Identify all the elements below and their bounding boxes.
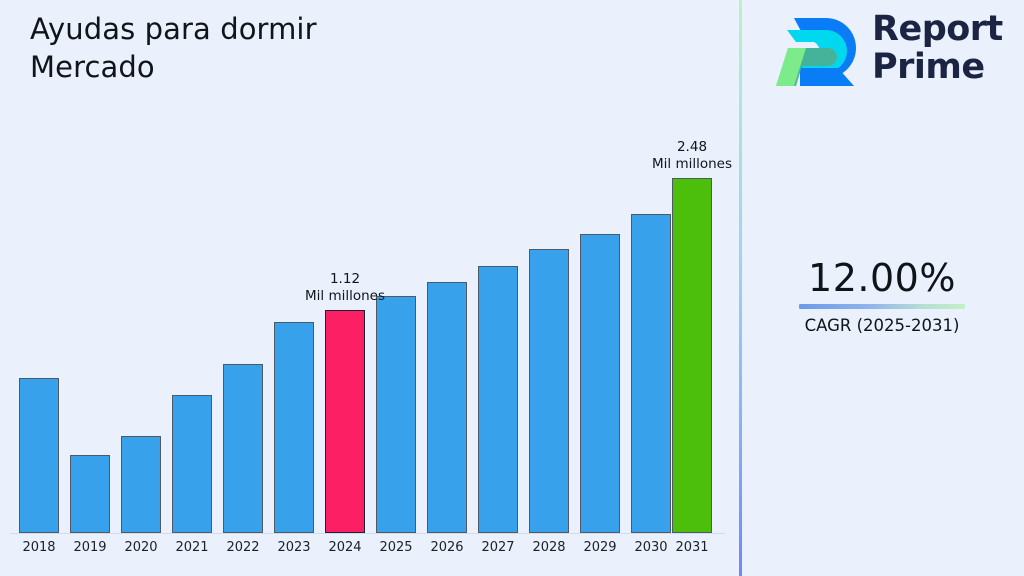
bar-2019 bbox=[70, 455, 110, 533]
chart-baseline bbox=[10, 533, 725, 534]
brand-name: Report Prime bbox=[872, 10, 1012, 86]
cagr-divider-rule bbox=[799, 304, 965, 309]
bar-2018 bbox=[19, 378, 59, 533]
bar-2024 bbox=[325, 310, 365, 533]
bar-chart: 2018201920202021202220232024202520262027… bbox=[0, 0, 739, 576]
x-tick-2018: 2018 bbox=[11, 540, 67, 555]
bar-2030 bbox=[631, 214, 671, 533]
bar-2026 bbox=[427, 282, 467, 533]
bar-2025 bbox=[376, 296, 416, 533]
bar-2029 bbox=[580, 234, 620, 533]
value-callout-2031: 2.48 Mil millones bbox=[617, 139, 767, 173]
x-tick-2028: 2028 bbox=[521, 540, 577, 555]
report-prime-logo-mark bbox=[776, 10, 868, 92]
x-tick-2023: 2023 bbox=[266, 540, 322, 555]
bar-2031 bbox=[672, 178, 712, 533]
value-callout-2024: 1.12 Mil millones bbox=[270, 271, 420, 305]
x-tick-2029: 2029 bbox=[572, 540, 628, 555]
bar-2023 bbox=[274, 322, 314, 533]
x-tick-2031: 2031 bbox=[664, 540, 720, 555]
cagr-value: 12.00% bbox=[740, 255, 1024, 301]
bar-2020 bbox=[121, 436, 161, 533]
bar-2028 bbox=[529, 249, 569, 533]
slide-canvas: Ayudas para dormir Mercado 2018201920202… bbox=[0, 0, 1024, 576]
x-tick-2022: 2022 bbox=[215, 540, 271, 555]
cagr-label: CAGR (2025-2031) bbox=[740, 311, 1024, 338]
brand-logo: Report Prime bbox=[776, 8, 1006, 94]
x-tick-2019: 2019 bbox=[62, 540, 118, 555]
bar-2021 bbox=[172, 395, 212, 533]
x-tick-2021: 2021 bbox=[164, 540, 220, 555]
cagr-block: 12.00% CAGR (2025-2031) bbox=[740, 255, 1024, 338]
x-tick-2020: 2020 bbox=[113, 540, 169, 555]
x-tick-2027: 2027 bbox=[470, 540, 526, 555]
bar-2022 bbox=[223, 364, 263, 533]
x-tick-2024: 2024 bbox=[317, 540, 373, 555]
x-tick-2025: 2025 bbox=[368, 540, 424, 555]
bar-2027 bbox=[478, 266, 518, 533]
x-tick-2026: 2026 bbox=[419, 540, 475, 555]
